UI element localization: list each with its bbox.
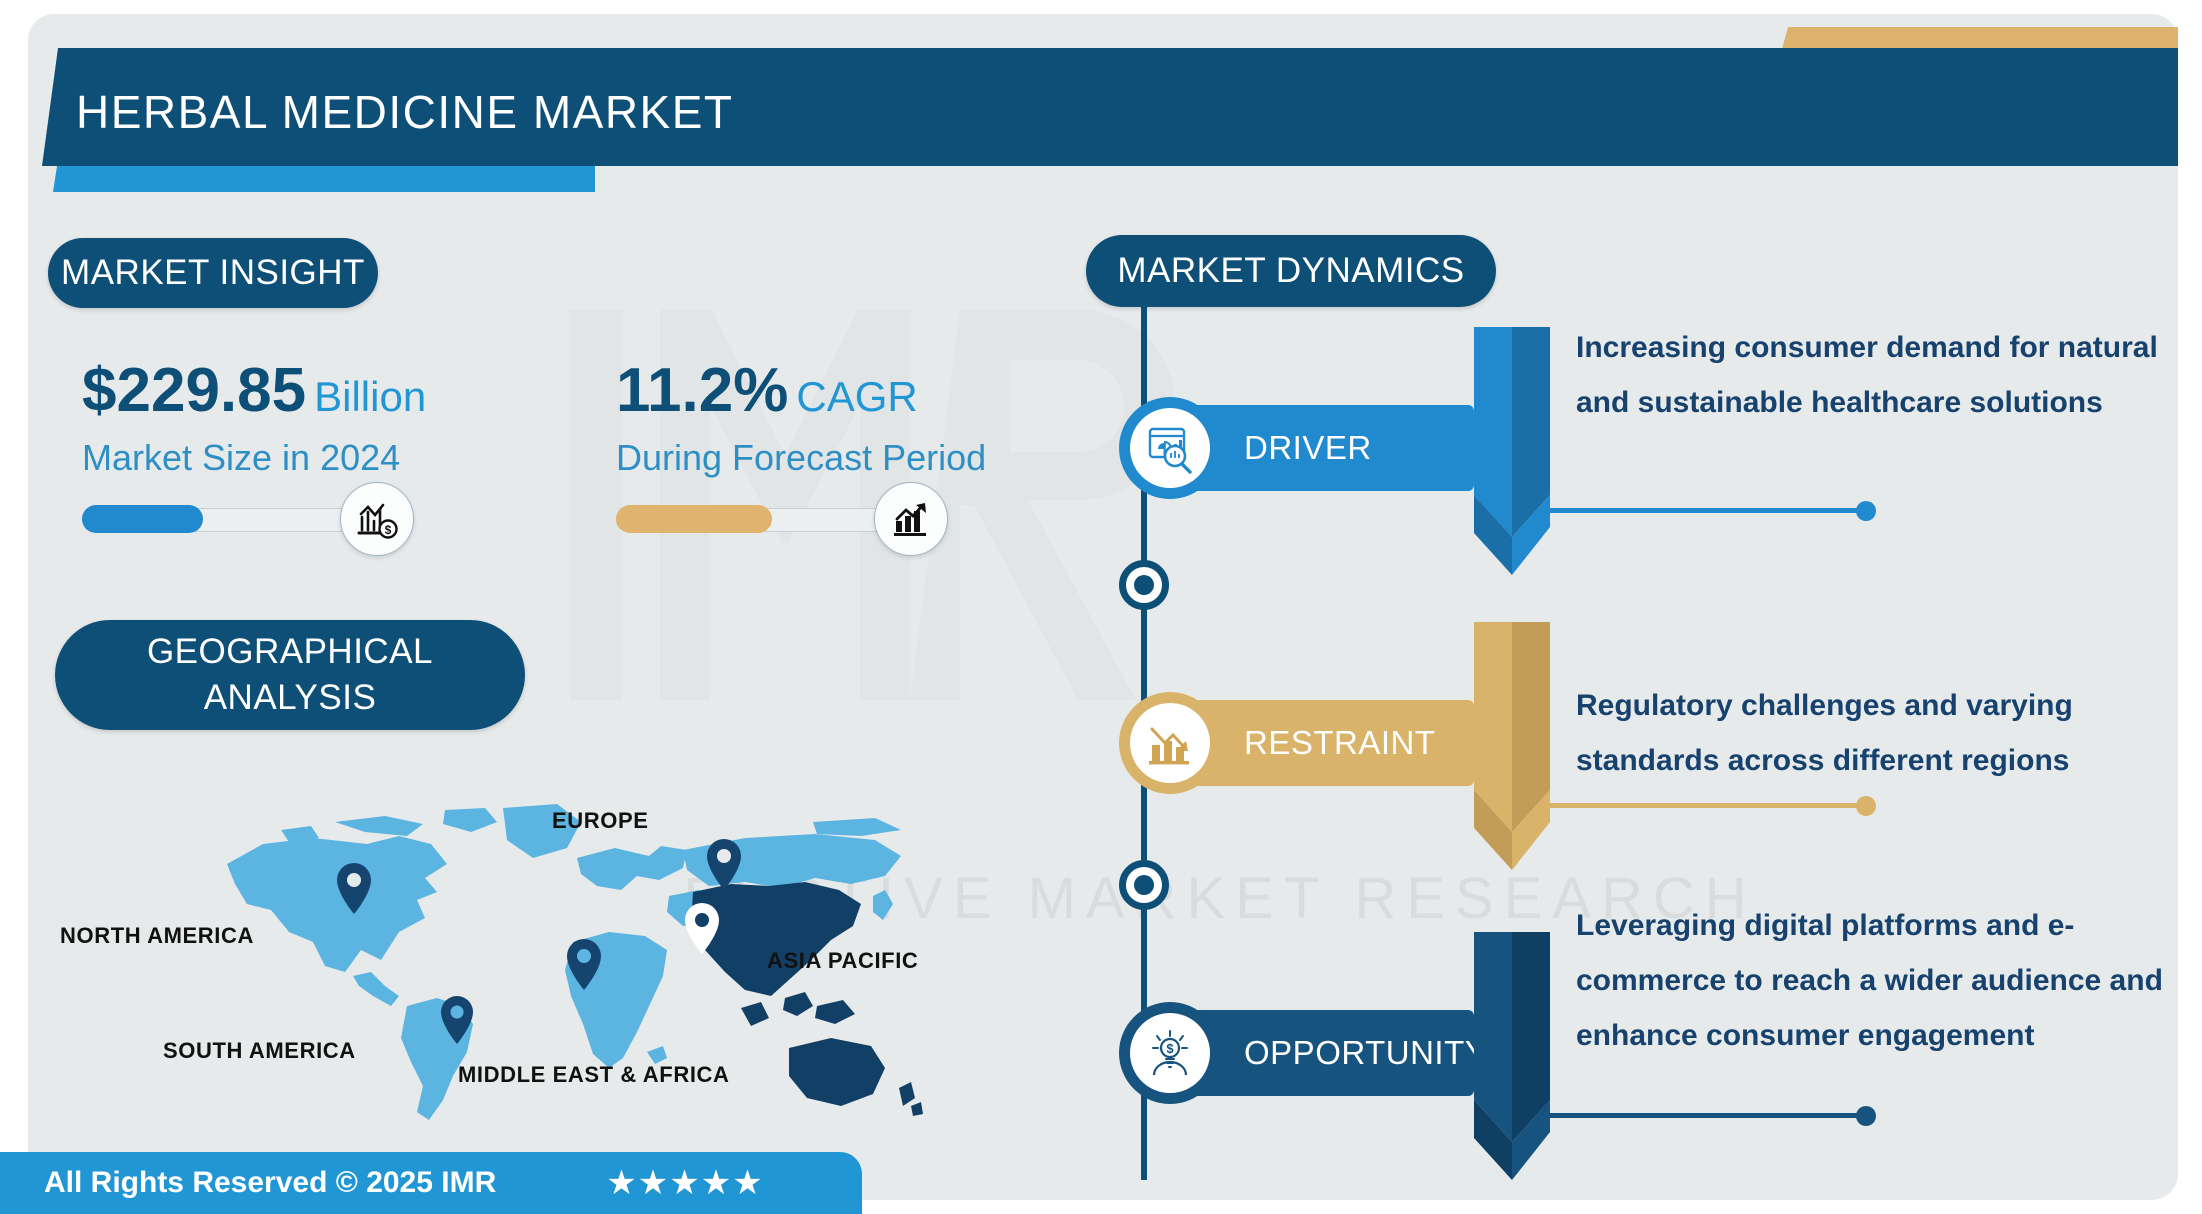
opportunity-description: Leveraging digital platforms and e-comme…	[1576, 898, 2176, 1063]
restraint-badge	[1119, 692, 1221, 794]
footer-copyright: All Rights Reserved © 2025 IMR	[44, 1166, 496, 1200]
timeline-node-2	[1119, 860, 1169, 910]
market-insight-pill-label: MARKET INSIGHT	[61, 253, 365, 293]
rating-stars: ★★★★★	[606, 1163, 763, 1203]
infographic-canvas: PECTIVE MARKET RESEARCH HERBAL MEDICINE …	[0, 0, 2202, 1214]
driver-chevron	[1474, 327, 1550, 575]
restraint-leader-line	[1544, 803, 1862, 808]
cagr-progress	[616, 504, 904, 534]
bar-chart-dollar-icon: $	[340, 482, 414, 556]
driver-leader-dot	[1856, 501, 1876, 521]
map-label-south-america: SOUTH AMERICA	[163, 1038, 356, 1064]
lightbulb-dollar-icon: $	[1144, 1027, 1196, 1079]
market-dynamics-pill: MARKET DYNAMICS	[1086, 235, 1496, 307]
market-insight-pill: MARKET INSIGHT	[48, 238, 378, 308]
stat-cagr-subtitle: During Forecast Period	[616, 440, 986, 476]
geographical-analysis-pill: GEOGRAPHICAL ANALYSIS	[55, 620, 525, 730]
opportunity-leader-line	[1544, 1113, 1862, 1118]
map-label-north-america: NORTH AMERICA	[60, 923, 254, 949]
geo-pill-label-line1: GEOGRAPHICAL	[147, 629, 433, 675]
declining-bar-chart-icon	[1144, 717, 1196, 769]
opportunity-leader-dot	[1856, 1106, 1876, 1126]
driver-leader-line	[1544, 508, 1862, 513]
restraint-leader-dot	[1856, 796, 1876, 816]
stat-cagr-value: 11.2%CAGR	[616, 360, 986, 422]
stat-market-size-unit: Billion	[314, 373, 426, 420]
gold-accent-bar	[1782, 27, 2178, 49]
stat-market-size-value: $229.85Billion	[82, 360, 426, 422]
driver-description: Increasing consumer demand for natural a…	[1576, 320, 2176, 430]
map-label-europe: EUROPE	[552, 808, 649, 834]
opportunity-badge: $	[1119, 1002, 1221, 1104]
stat-cagr-number: 11.2%	[616, 356, 788, 425]
driver-label: DRIVER	[1244, 405, 1372, 491]
opportunity-label: OPPORTUNITY	[1244, 1010, 1487, 1096]
map-label-middle-east-africa: MIDDLE EAST & AFRICA	[458, 1062, 730, 1088]
header-underline-accent	[53, 166, 595, 192]
restraint-description: Regulatory challenges and varying standa…	[1576, 678, 2176, 788]
market-size-progress: $	[82, 504, 370, 534]
geo-pill-label-line2: ANALYSIS	[204, 675, 377, 721]
restraint-label: RESTRAINT	[1244, 700, 1436, 786]
market-dynamics-pill-label: MARKET DYNAMICS	[1117, 251, 1464, 291]
stat-market-size: $229.85Billion Market Size in 2024	[82, 360, 426, 534]
analytics-magnifier-icon	[1144, 422, 1196, 474]
svg-text:$: $	[1166, 1041, 1174, 1056]
stat-cagr: 11.2%CAGR During Forecast Period	[616, 360, 986, 534]
page-title: HERBAL MEDICINE MARKET	[76, 85, 734, 139]
driver-badge	[1119, 397, 1221, 499]
stat-market-size-number: $229.85	[82, 356, 306, 425]
opportunity-chevron	[1474, 932, 1550, 1180]
market-size-progress-fill	[82, 505, 203, 533]
footer-bar: All Rights Reserved © 2025 IMR ★★★★★	[0, 1152, 862, 1214]
cagr-progress-fill	[616, 505, 772, 533]
restraint-chevron	[1474, 622, 1550, 870]
svg-text:$: $	[385, 523, 392, 537]
map-label-asia-pacific: ASIA PACIFIC	[767, 948, 918, 974]
stat-market-size-subtitle: Market Size in 2024	[82, 440, 426, 476]
growth-arrow-chart-icon	[874, 482, 948, 556]
stat-cagr-unit: CAGR	[796, 373, 917, 420]
timeline-node-1	[1119, 560, 1169, 610]
